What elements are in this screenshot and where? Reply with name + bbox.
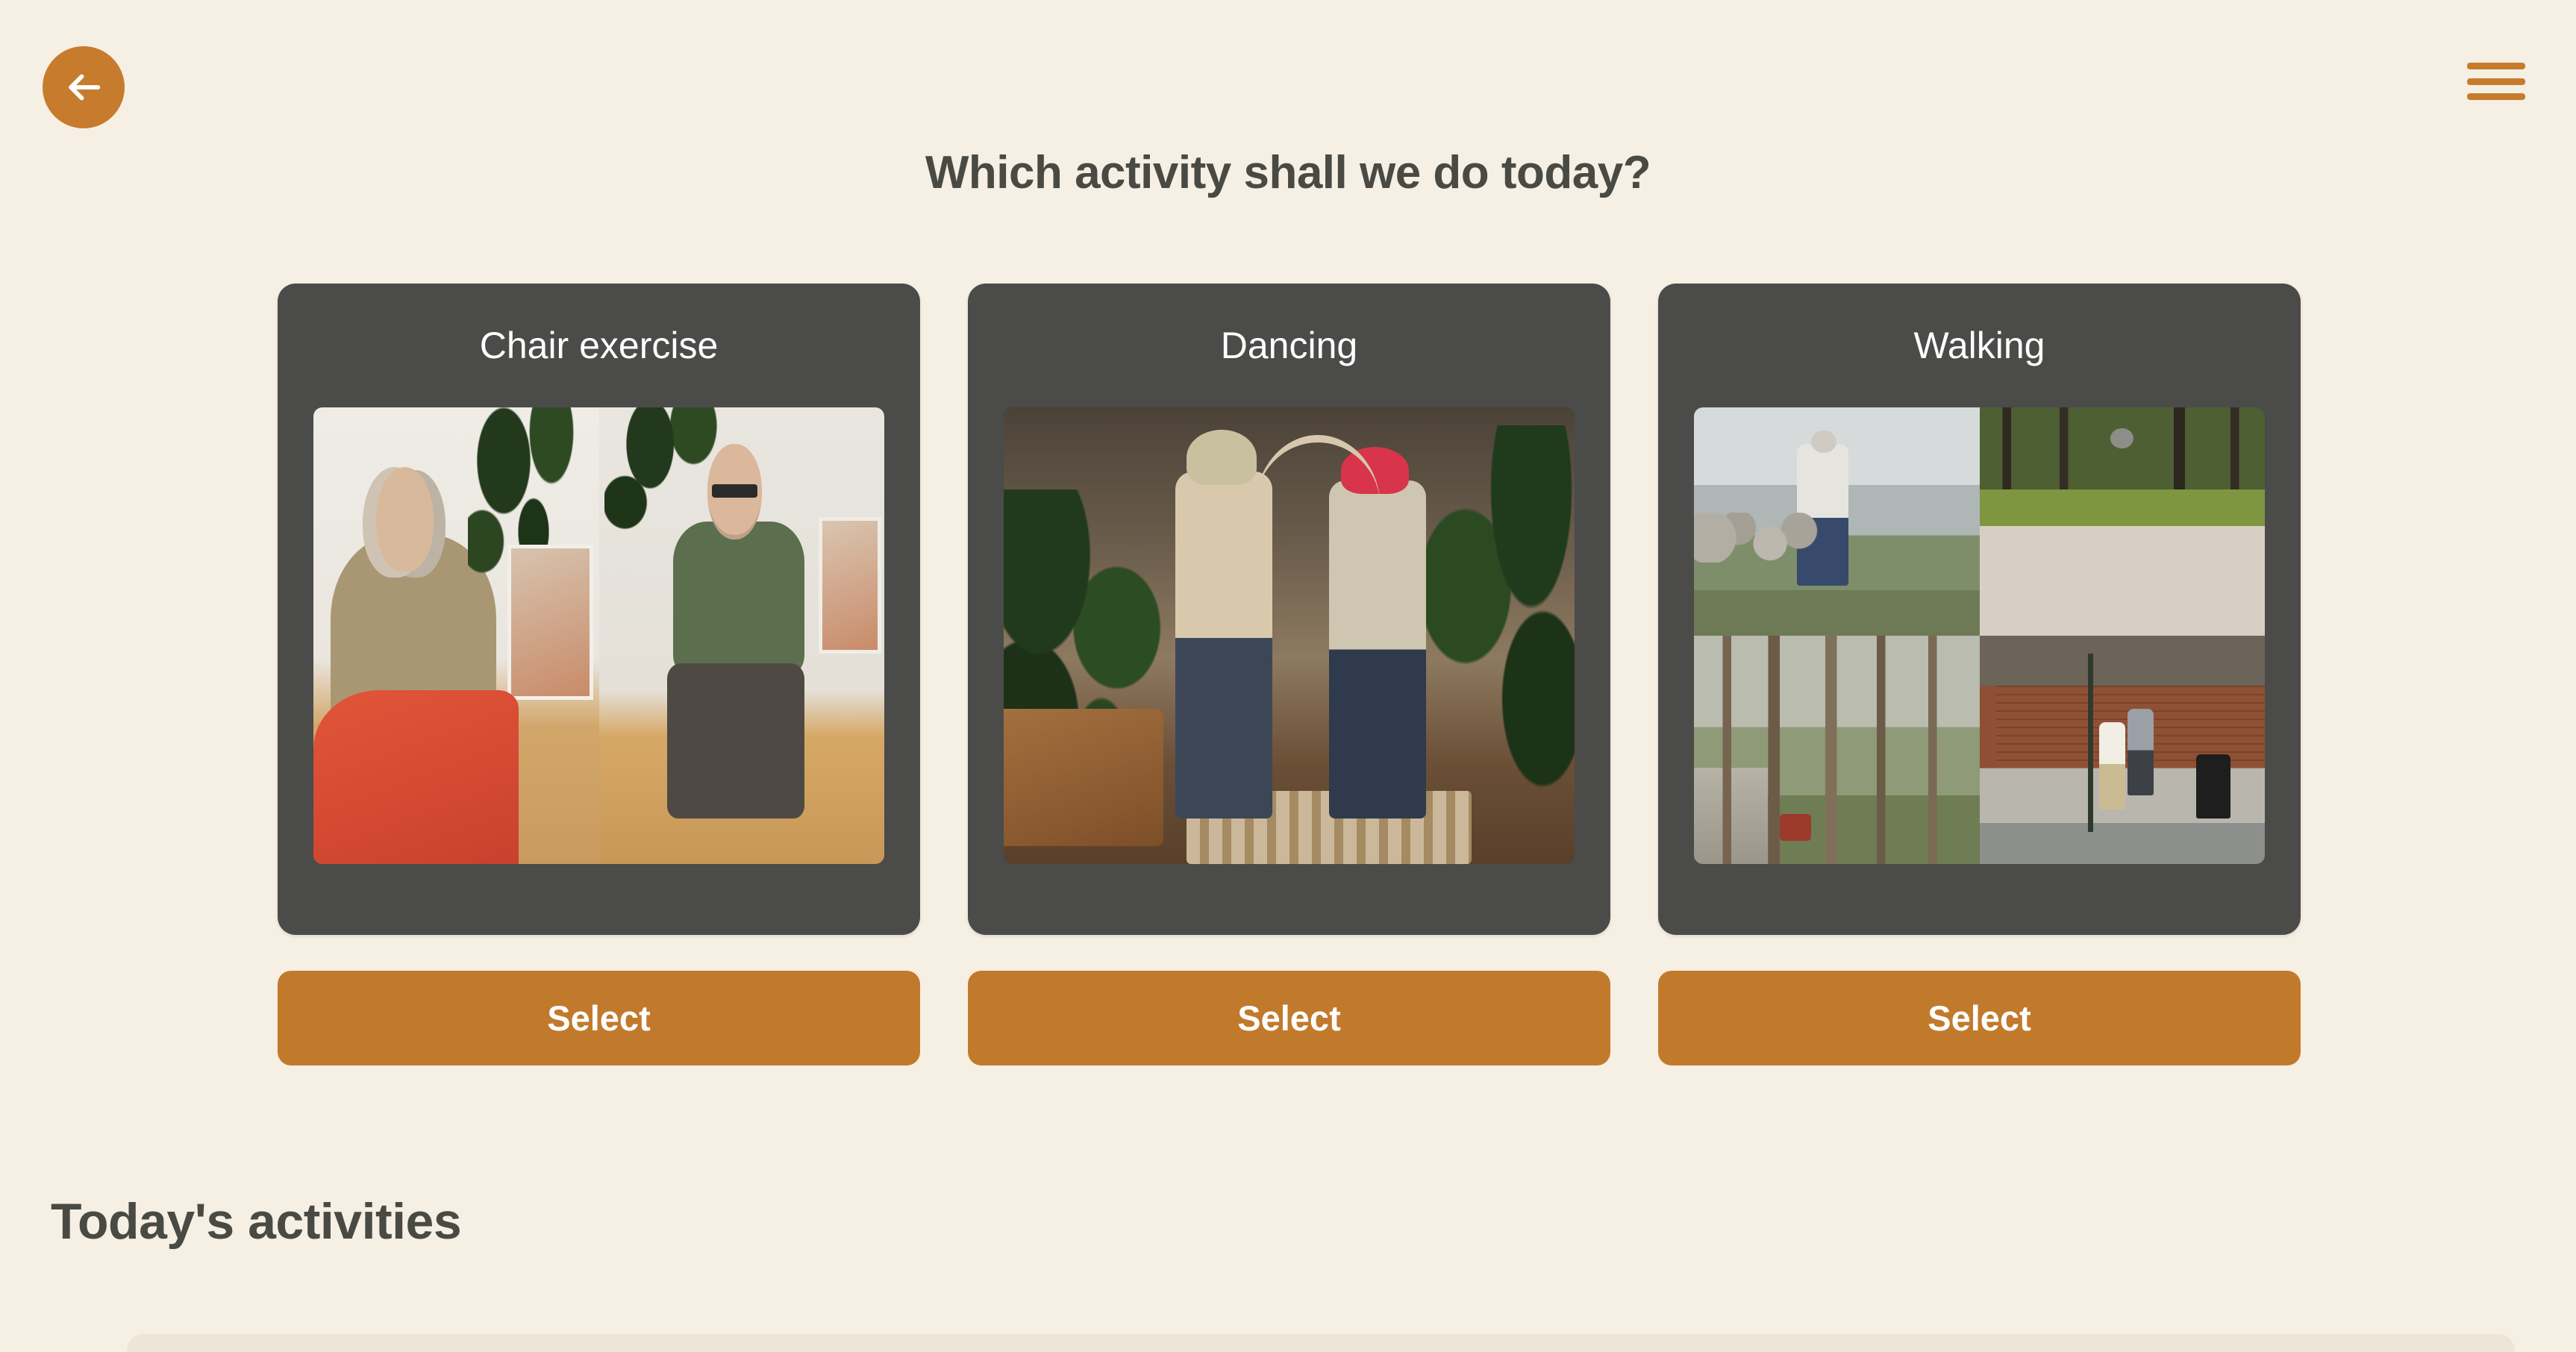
activity-photo xyxy=(313,407,599,864)
activity-card-chair-exercise[interactable]: Chair exercise xyxy=(278,284,920,935)
activity-card-media xyxy=(313,407,884,864)
select-button-label: Select xyxy=(1237,998,1340,1039)
activity-photo xyxy=(1980,636,2266,864)
arrow-left-icon xyxy=(62,66,105,109)
activity-photo xyxy=(1004,407,1575,864)
activity-photo xyxy=(1694,407,1980,636)
hamburger-menu-button[interactable] xyxy=(2467,58,2525,104)
activity-card-row: Chair exercise Select Dancing xyxy=(278,284,2301,1065)
activity-column-chair-exercise: Chair exercise Select xyxy=(278,284,920,1065)
activity-card-title: Walking xyxy=(1914,327,2045,364)
activity-card-dancing[interactable]: Dancing xyxy=(968,284,1610,935)
todays-activities-panel[interactable] xyxy=(127,1334,2515,1352)
page-title: Which activity shall we do today? xyxy=(0,146,2576,199)
select-button-walking[interactable]: Select xyxy=(1658,971,2301,1065)
select-button-label: Select xyxy=(1928,998,2031,1039)
activity-card-media xyxy=(1694,407,2265,864)
hamburger-bar-middle xyxy=(2467,78,2525,85)
back-button[interactable] xyxy=(43,46,125,128)
select-button-dancing[interactable]: Select xyxy=(968,971,1610,1065)
todays-activities-heading: Today's activities xyxy=(51,1192,461,1251)
activity-card-walking[interactable]: Walking xyxy=(1658,284,2301,935)
activity-photo xyxy=(1980,407,2266,636)
select-button-label: Select xyxy=(547,998,650,1039)
activity-column-walking: Walking xyxy=(1658,284,2301,1065)
select-button-chair-exercise[interactable]: Select xyxy=(278,971,920,1065)
hamburger-bar-bottom xyxy=(2467,93,2525,100)
activity-photo xyxy=(599,407,885,864)
activity-column-dancing: Dancing Select xyxy=(968,284,1610,1065)
activity-card-media xyxy=(1004,407,1575,864)
activity-card-title: Chair exercise xyxy=(480,327,719,364)
hamburger-bar-top xyxy=(2467,63,2525,69)
activity-photo xyxy=(1694,636,1980,864)
activity-card-title: Dancing xyxy=(1221,327,1357,364)
